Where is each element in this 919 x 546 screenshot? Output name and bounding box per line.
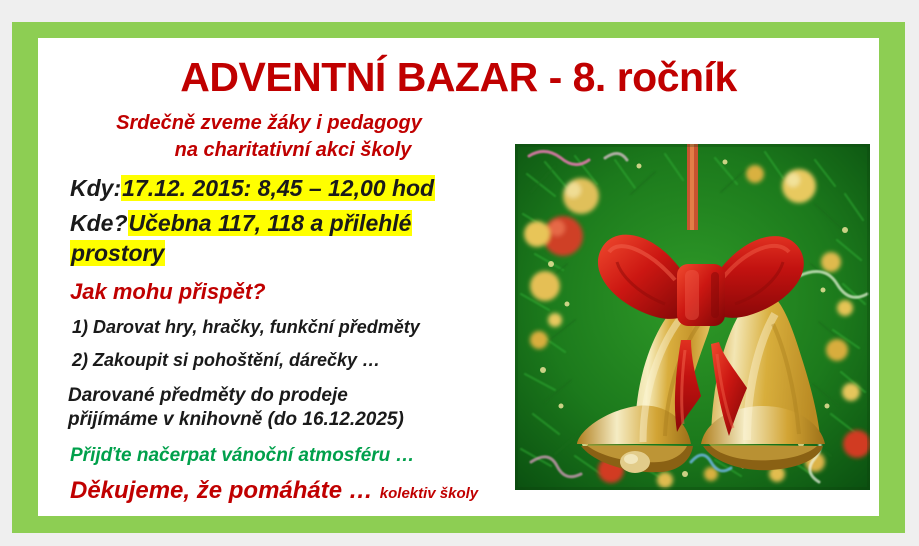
where-line: Kde?Učebna 117, 118 a přilehlé prostory [50, 209, 470, 269]
come-line: Přijďte načerpat vánoční atmosféru … [50, 445, 510, 467]
invitation-line-1: Srdečně zveme žáky i pedagogy [50, 110, 510, 137]
when-label: Kdy: [70, 175, 121, 201]
where-label: Kde? [70, 210, 128, 236]
invitation-line-2: na charitativní akci školy [50, 137, 510, 164]
thanks-text: Děkujeme, že pomáháte … [70, 477, 373, 504]
contribute-option-2: 2) Zakoupit si pohoštění, dárečky … [50, 350, 510, 371]
donation-note: Darované předměty do prodeje přijímáme v… [50, 384, 498, 432]
when-line: Kdy:17.12. 2015: 8,45 – 12,00 hod [50, 174, 510, 203]
signature: kolektiv školy [373, 485, 478, 502]
christmas-bells-photo [515, 144, 870, 490]
donation-note-line-1: Darované předměty do prodeje [68, 385, 348, 406]
contribute-question: Jak mohu přispět? [50, 279, 510, 305]
poster-green-frame: ADVENTNÍ BAZAR - 8. ročník Srdečně zveme… [12, 22, 905, 533]
poster-body: ADVENTNÍ BAZAR - 8. ročník Srdečně zveme… [38, 38, 879, 516]
page-title: ADVENTNÍ BAZAR - 8. ročník [38, 56, 879, 99]
poster-text-column: Srdečně zveme žáky i pedagogy na charita… [50, 110, 510, 505]
contribute-option-1: 1) Darovat hry, hračky, funkční předměty [50, 317, 510, 338]
thanks-line: Děkujeme, že pomáháte …kolektiv školy [50, 477, 510, 505]
when-value: 17.12. 2015: 8,45 – 12,00 hod [121, 175, 435, 201]
donation-note-line-2: přijímáme v knihovně (do 16.12.2025) [68, 409, 404, 430]
